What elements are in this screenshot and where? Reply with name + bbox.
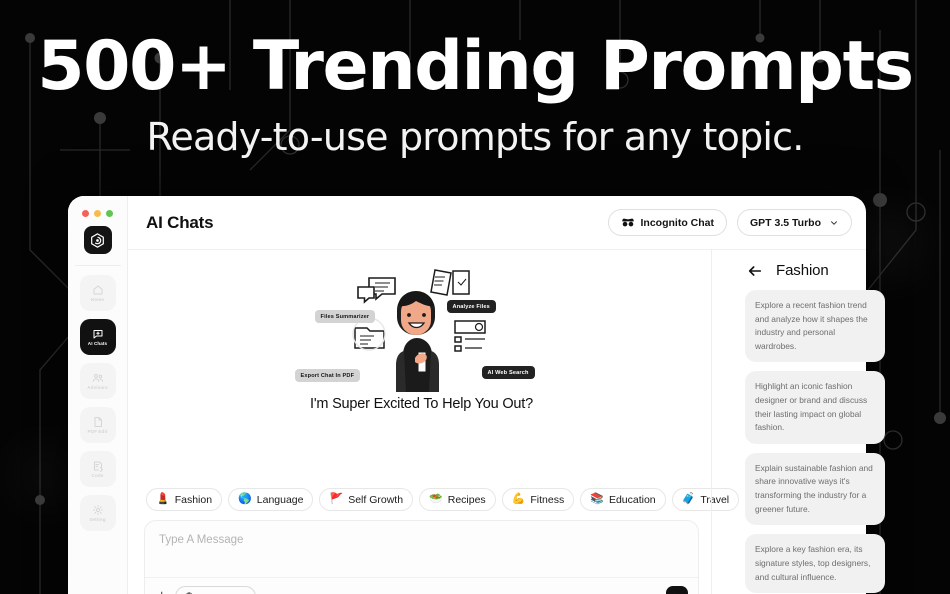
chip-fitness[interactable]: 💪 Fitness <box>502 488 575 511</box>
flag-icon: 🚩 <box>329 494 343 505</box>
incognito-chat-button[interactable]: Incognito Chat <box>608 209 728 236</box>
sidebar-item-home[interactable]: Home <box>80 275 116 311</box>
tag-label: AI Web Search <box>488 370 529 376</box>
chip-recipes[interactable]: 🥗 Recipes <box>419 488 496 511</box>
page-root: 500+ Trending Prompts Ready-to-use promp… <box>0 0 950 594</box>
chat-bubbles-icon <box>358 278 395 302</box>
chip-label: Language <box>257 494 304 506</box>
chat-plus-icon <box>92 328 104 340</box>
lipstick-icon: 💄 <box>156 494 170 505</box>
muscle-icon: 💪 <box>512 494 526 505</box>
chat-pane: Files Summarizer Analyze Files Export Ch… <box>128 250 711 594</box>
sidebar-item-label: AI Chats <box>88 341 107 346</box>
welcome-illustration-area: Files Summarizer Analyze Files Export Ch… <box>144 260 699 478</box>
composer-toolbar: + Web Search <box>145 577 698 594</box>
luggage-icon: 🧳 <box>682 494 696 505</box>
home-icon <box>92 284 104 296</box>
window-traffic-lights[interactable] <box>82 210 113 217</box>
app-title: AI Chats <box>146 213 598 233</box>
chip-label: Fashion <box>175 494 212 506</box>
prompt-card[interactable]: Explain sustainable fashion and share in… <box>745 453 885 525</box>
send-button[interactable] <box>666 586 688 594</box>
top-bar: AI Chats Incognito Chat GPT 3.5 Turbo <box>128 196 866 250</box>
document-icon <box>92 416 104 428</box>
web-search-toggle[interactable]: Web Search <box>175 586 256 594</box>
page-title: 500+ Trending Prompts <box>0 32 950 101</box>
web-list-icon <box>455 321 485 351</box>
chip-language[interactable]: 🌎 Language <box>228 488 313 511</box>
globe-icon: 🌎 <box>238 494 252 505</box>
chip-label: Self Growth <box>348 494 403 506</box>
maximize-button[interactable] <box>106 210 113 217</box>
tag-label: Export Chat In PDF <box>301 373 355 379</box>
chip-fashion[interactable]: 💄 Fashion <box>146 488 222 511</box>
arrow-left-icon[interactable] <box>745 263 765 279</box>
chip-label: Education <box>609 494 656 506</box>
sidebar-item-label: Code <box>92 473 104 478</box>
prompt-card[interactable]: Highlight an iconic fashion designer or … <box>745 371 885 443</box>
incognito-chat-label: Incognito Chat <box>641 217 715 229</box>
incognito-mask-icon <box>621 217 635 228</box>
prompt-panel-title: Fashion <box>776 262 829 279</box>
model-selector-label: GPT 3.5 Turbo <box>750 217 821 229</box>
sidebar-item-label: Setting <box>89 517 105 522</box>
hero-section: 500+ Trending Prompts Ready-to-use promp… <box>0 32 950 159</box>
sidebar: Home AI Chats Advisors <box>68 196 128 594</box>
page-subtitle: Ready-to-use prompts for any topic. <box>0 115 950 159</box>
code-edit-icon <box>92 460 104 472</box>
tag-export-chat-in-pdf: Export Chat In PDF <box>295 369 361 382</box>
message-input-placeholder: Type A Message <box>159 534 684 546</box>
chip-label: Fitness <box>530 494 564 506</box>
sidebar-item-code[interactable]: Code <box>80 451 116 487</box>
chevron-down-icon <box>829 218 839 228</box>
sidebar-item-advisors[interactable]: Advisors <box>80 363 116 399</box>
prompt-card[interactable]: Explore a recent fashion trend and analy… <box>745 290 885 362</box>
close-button[interactable] <box>82 210 89 217</box>
sidebar-item-pdf-edit[interactable]: PDF Edit <box>80 407 116 443</box>
app-window: Home AI Chats Advisors <box>68 196 866 594</box>
tag-ai-web-search: AI Web Search <box>482 366 535 379</box>
gear-icon <box>92 504 104 516</box>
prompt-panel-header: Fashion <box>745 262 829 279</box>
chip-self-growth[interactable]: 🚩 Self Growth <box>319 488 413 511</box>
person-figure <box>396 291 439 392</box>
sidebar-item-label: Home <box>91 297 104 302</box>
app-logo-icon[interactable] <box>84 226 112 254</box>
books-icon: 📚 <box>590 494 604 505</box>
welcome-heading: I'm Super Excited To Help You Out? <box>310 396 533 412</box>
sidebar-item-setting[interactable]: Setting <box>80 495 116 531</box>
tag-files-summarizer: Files Summarizer <box>315 310 376 323</box>
prompt-card[interactable]: Explore a key fashion era, its signature… <box>745 534 885 593</box>
prompt-card-list: Explore a recent fashion trend and analy… <box>745 290 890 594</box>
chip-education[interactable]: 📚 Education <box>580 488 665 511</box>
sidebar-item-label: Advisors <box>87 385 107 390</box>
message-input[interactable]: Type A Message <box>145 521 698 577</box>
hero-illustration: Files Summarizer Analyze Files Export Ch… <box>287 266 557 392</box>
sidebar-item-ai-chats[interactable]: AI Chats <box>80 319 116 355</box>
tag-label: Files Summarizer <box>321 314 370 320</box>
tag-analyze-files: Analyze Files <box>447 300 496 313</box>
message-composer: Type A Message + Web Search <box>144 520 699 594</box>
model-selector[interactable]: GPT 3.5 Turbo <box>737 209 852 236</box>
category-chips: 💄 Fashion 🌎 Language 🚩 Self Growth <box>146 488 699 511</box>
people-icon <box>92 372 104 384</box>
sidebar-item-label: PDF Edit <box>88 429 108 434</box>
salad-icon: 🥗 <box>429 494 443 505</box>
sidebar-divider <box>75 265 121 266</box>
chip-label: Recipes <box>448 494 486 506</box>
minimize-button[interactable] <box>94 210 101 217</box>
tag-label: Analyze Files <box>453 304 490 310</box>
attach-button[interactable]: + <box>157 589 166 594</box>
